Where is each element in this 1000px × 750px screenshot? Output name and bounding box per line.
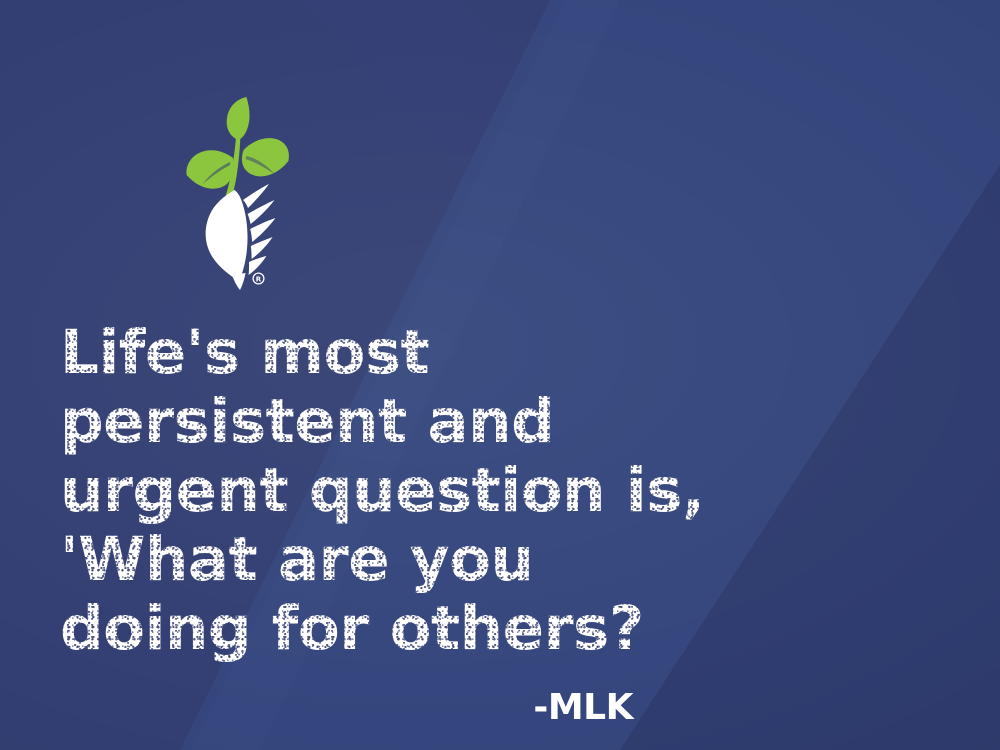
quote-line-2: persistent and [60, 387, 760, 456]
svg-text:R: R [256, 276, 262, 284]
quote-slide: R Life's most persistent and urgent ques… [0, 0, 1000, 750]
quote-line-1: Life's most [60, 318, 760, 387]
hand-finger-1 [243, 184, 269, 208]
hand-finger-5 [249, 256, 267, 275]
quote-text-block: Life's most persistent and urgent questi… [60, 318, 760, 663]
registered-trademark-icon: R [253, 273, 264, 284]
leaf-group [186, 97, 288, 207]
quote-line-3: urgent question is, [60, 456, 760, 525]
hand-palm [206, 190, 248, 281]
hand-wrist [231, 272, 246, 290]
quote-line-5: doing for others? [60, 594, 760, 663]
hand-wing-group [206, 184, 276, 290]
quote-attribution: -MLK [60, 688, 633, 728]
quote-line-4: 'What are you [60, 525, 760, 594]
leaf-left [186, 150, 233, 189]
sprout-in-hand-logo: R [186, 96, 290, 296]
leaf-top [227, 97, 250, 140]
